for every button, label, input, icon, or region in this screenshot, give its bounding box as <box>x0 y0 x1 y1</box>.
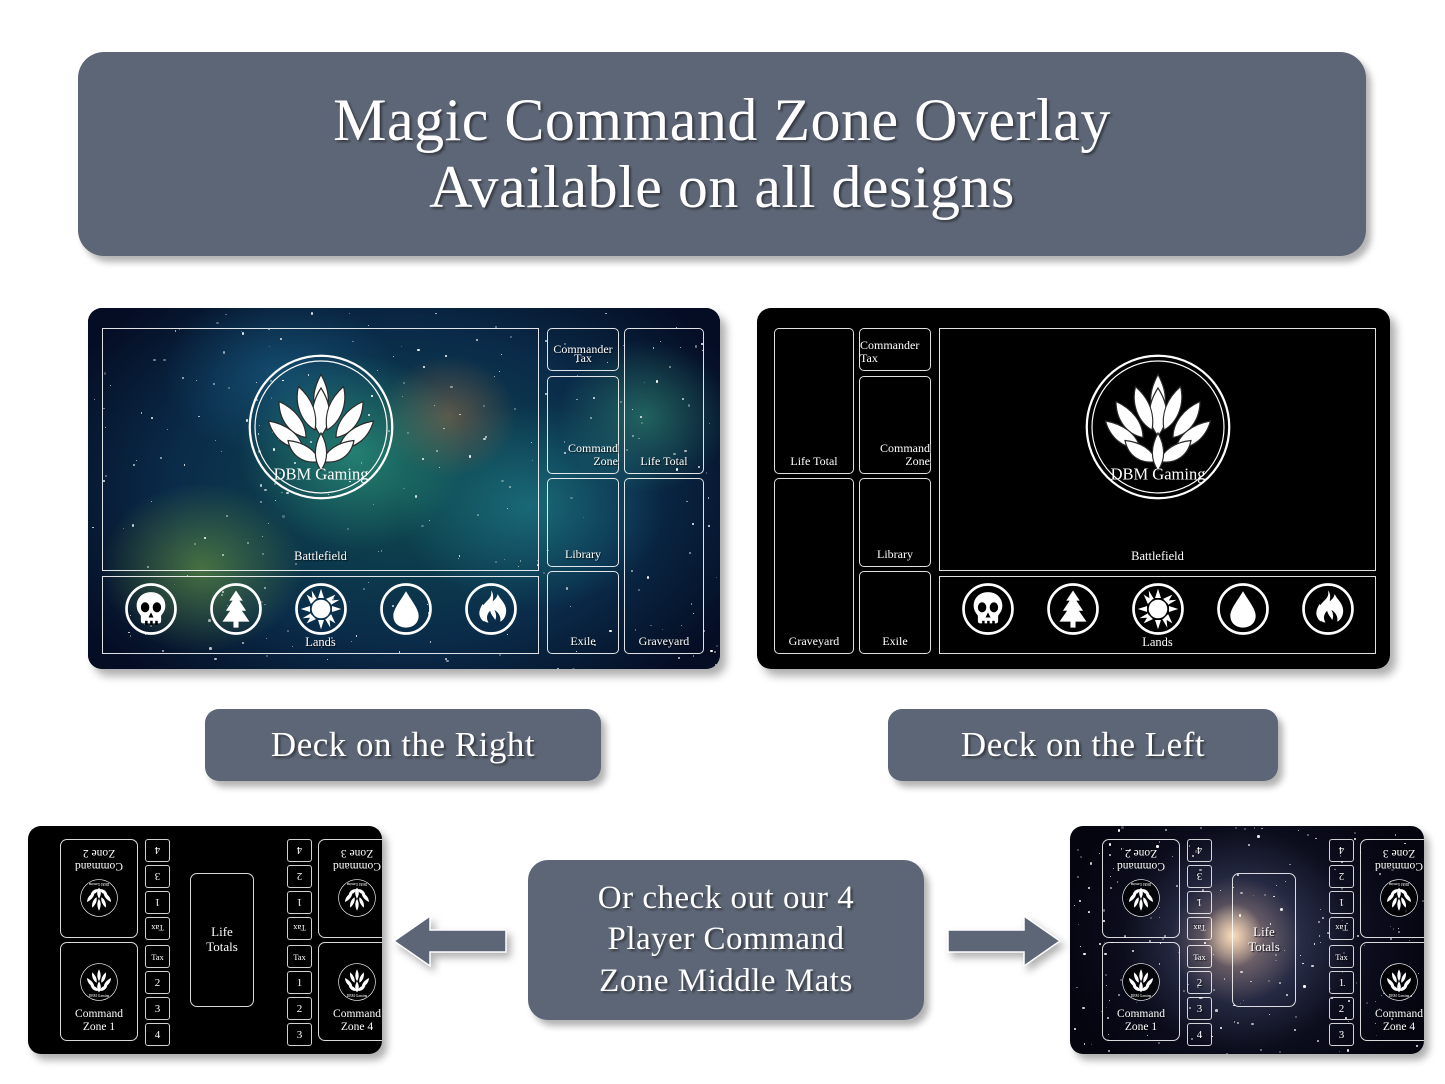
command-zone-3-galaxy-line1: Command <box>1375 859 1423 872</box>
command-zone-1-line2: Zone 1 <box>83 1021 115 1034</box>
command-zone-3-galaxy[interactable]: DBM Gaming Command Zone 3 <box>1360 839 1424 938</box>
water-drop-icon[interactable] <box>379 582 433 636</box>
command-zone-1[interactable]: DBM Gaming Command Zone 1 <box>60 942 138 1041</box>
cta-line2: Player Command <box>607 919 844 960</box>
brand-name-text: DBM Gaming <box>274 465 369 484</box>
command-zone-3-line2: Zone 3 <box>341 846 373 859</box>
command-zone-1-galaxy-line1: Command <box>1117 1008 1165 1021</box>
command-zone-4-galaxy-line1: Command <box>1375 1008 1423 1021</box>
library-label: Library <box>565 548 601 561</box>
zone-commander-tax-line2-holder: Tax <box>547 328 619 371</box>
zone-life-total[interactable]: Life Total <box>624 328 704 474</box>
library-label-mirror: Library <box>877 548 913 561</box>
svg-text:DBM Gaming: DBM Gaming <box>88 882 109 886</box>
counter-left-top-0-galaxy[interactable]: 4 <box>1187 839 1212 862</box>
zone-library[interactable]: Library <box>547 478 619 567</box>
command-zone-4-galaxy-line2: Zone 4 <box>1383 1021 1415 1034</box>
water-drop-icon[interactable] <box>1216 582 1270 636</box>
counter-right-bottom-1[interactable]: 1 <box>287 971 312 994</box>
svg-text:DBM Gaming: DBM Gaming <box>1131 994 1152 998</box>
counter-left-bottom-1[interactable]: 2 <box>145 971 170 994</box>
zone-command-zone-mirror[interactable]: Command Zone <box>859 376 931 474</box>
sun-icon[interactable] <box>294 582 348 636</box>
zone-exile[interactable]: Exile <box>547 571 619 654</box>
battlefield-label: Battlefield <box>103 549 538 564</box>
counter-right-bottom-2[interactable]: 2 <box>287 997 312 1020</box>
graveyard-label: Graveyard <box>639 635 690 648</box>
counter-right-bottom-1-galaxy[interactable]: 1 <box>1329 971 1354 994</box>
caption-right-text: Deck on the Left <box>961 726 1205 765</box>
header-title-line2: Available on all designs <box>429 154 1015 221</box>
zone-commander-tax-mirror[interactable]: Commander Tax <box>859 328 931 371</box>
svg-text:DBM Gaming: DBM Gaming <box>1130 882 1151 886</box>
counter-right-bottom-2-galaxy[interactable]: 2 <box>1329 997 1354 1020</box>
counter-left-top-tax[interactable]: Tax <box>145 917 170 940</box>
command-zone-2-galaxy[interactable]: DBM Gaming Command Zone 2 <box>1102 839 1180 938</box>
life-totals-galaxy-line1: Life <box>1253 925 1275 940</box>
brand-name-text: DBM Gaming <box>1111 465 1206 484</box>
counter-right-bottom-3[interactable]: 3 <box>287 1023 312 1046</box>
header-title-line1: Magic Command Zone Overlay <box>333 87 1111 154</box>
brand-logo: DBM Gaming <box>246 352 396 502</box>
commander-tax-label-line2: Tax <box>574 352 592 365</box>
counter-right-top-tax[interactable]: Tax <box>287 917 312 940</box>
graveyard-label-mirror: Graveyard <box>789 635 840 648</box>
arrow-left-icon <box>390 910 510 972</box>
playmat-deck-on-the-left[interactable]: Life Total Graveyard Commander Tax Comma… <box>757 308 1390 669</box>
exile-label-mirror: Exile <box>882 635 907 648</box>
lotus-icon: DBM Gaming <box>246 352 396 502</box>
sun-icon[interactable] <box>1131 582 1185 636</box>
playmat-deck-on-the-right[interactable]: Battlefield DBM Gaming Lands <box>88 308 720 669</box>
command-zone-3-line1: Command <box>333 859 381 872</box>
counter-left-bottom-3-galaxy[interactable]: 4 <box>1187 1023 1212 1046</box>
lotus-icon: DBM Gaming <box>1121 878 1161 918</box>
lotus-icon: DBM Gaming <box>79 878 119 918</box>
brand-logo-mirror: DBM Gaming <box>1083 352 1233 502</box>
counter-right-top-2[interactable]: 1 <box>287 891 312 914</box>
counter-right-top-0[interactable]: 4 <box>287 839 312 862</box>
counter-right-top-2-galaxy[interactable]: 1 <box>1329 891 1354 914</box>
command-zone-4-line1: Command <box>333 1008 381 1021</box>
middle-mat-4-player-galaxy[interactable]: DBM Gaming Command Zone 2 DBM Gaming Com… <box>1070 826 1424 1054</box>
svg-text:DBM Gaming: DBM Gaming <box>1388 882 1409 886</box>
zone-life-total-mirror[interactable]: Life Total <box>774 328 854 474</box>
command-zone-label-mirror-line2: Zone <box>905 455 930 468</box>
exile-label: Exile <box>570 635 595 648</box>
command-zone-2-line1: Command <box>75 859 123 872</box>
counter-right-bottom-tax[interactable]: Tax <box>287 945 312 968</box>
zone-graveyard[interactable]: Graveyard <box>624 478 704 654</box>
caption-deck-on-the-right: Deck on the Right <box>205 709 601 781</box>
counter-left-top-1[interactable]: 3 <box>145 865 170 888</box>
mana-symbol-row <box>108 580 533 638</box>
command-zone-label-line2: Zone <box>593 455 618 468</box>
command-zone-3[interactable]: DBM Gaming Command Zone 3 <box>318 839 382 938</box>
command-zone-2-line2: Zone 2 <box>83 846 115 859</box>
counter-left-top-0[interactable]: 4 <box>145 839 170 862</box>
life-totals-galaxy-line2: Totals <box>1248 940 1280 955</box>
counter-right-top-1-galaxy[interactable]: 2 <box>1329 865 1354 888</box>
command-zone-4-line2: Zone 4 <box>341 1021 373 1034</box>
counter-left-bottom-2[interactable]: 3 <box>145 997 170 1020</box>
life-totals-box[interactable]: Life Totals <box>190 873 254 1007</box>
cta-line3: Zone Middle Mats <box>599 961 853 1002</box>
command-zone-3-galaxy-line2: Zone 3 <box>1383 846 1415 859</box>
cta-banner[interactable]: Or check out our 4 Player Command Zone M… <box>528 860 924 1020</box>
zone-exile-mirror[interactable]: Exile <box>859 571 931 654</box>
zone-graveyard-mirror[interactable]: Graveyard <box>774 478 854 654</box>
life-total-label-mirror: Life Total <box>790 455 837 468</box>
lotus-icon: DBM Gaming <box>337 962 377 1002</box>
counter-left-bottom-2-galaxy[interactable]: 3 <box>1187 997 1212 1020</box>
middle-mat-4-player-black[interactable]: DBM Gaming Command Zone 2 DBM Gaming Com… <box>28 826 382 1054</box>
command-zone-4[interactable]: DBM Gaming Command Zone 4 <box>318 942 382 1041</box>
counter-right-top-1[interactable]: 2 <box>287 865 312 888</box>
svg-text:DBM Gaming: DBM Gaming <box>89 994 110 998</box>
caption-deck-on-the-left: Deck on the Left <box>888 709 1278 781</box>
tree-icon[interactable] <box>1046 582 1100 636</box>
counter-left-top-1-galaxy[interactable]: 3 <box>1187 865 1212 888</box>
lotus-icon: DBM Gaming <box>1121 962 1161 1002</box>
life-totals-line1: Life <box>211 925 233 940</box>
counter-left-bottom-3[interactable]: 4 <box>145 1023 170 1046</box>
lotus-icon: DBM Gaming <box>337 878 377 918</box>
counter-left-top-tax-galaxy[interactable]: Tax <box>1187 917 1212 940</box>
tree-icon[interactable] <box>209 582 263 636</box>
lotus-icon: DBM Gaming <box>1379 878 1419 918</box>
life-total-label: Life Total <box>640 455 687 468</box>
battlefield-label-mirror: Battlefield <box>940 549 1375 564</box>
lotus-icon: DBM Gaming <box>1379 962 1419 1002</box>
counter-right-bottom-tax-galaxy[interactable]: Tax <box>1329 945 1354 968</box>
counter-left-bottom-tax[interactable]: Tax <box>145 945 170 968</box>
svg-text:DBM Gaming: DBM Gaming <box>347 994 368 998</box>
cta-line1: Or check out our 4 <box>598 878 854 919</box>
svg-text:DBM Gaming: DBM Gaming <box>346 882 367 886</box>
command-zone-2-galaxy-line2: Zone 2 <box>1125 846 1157 859</box>
command-zone-1-galaxy-line2: Zone 1 <box>1125 1021 1157 1034</box>
command-zone-4-galaxy[interactable]: DBM Gaming Command Zone 4 <box>1360 942 1424 1041</box>
mana-symbol-row-mirror <box>945 580 1370 638</box>
counter-left-top-2[interactable]: 1 <box>145 891 170 914</box>
lotus-icon: DBM Gaming <box>1083 352 1233 502</box>
command-zone-1-galaxy[interactable]: DBM Gaming Command Zone 1 <box>1102 942 1180 1041</box>
flame-icon[interactable] <box>464 582 518 636</box>
svg-text:DBM Gaming: DBM Gaming <box>1389 994 1410 998</box>
lotus-icon: DBM Gaming <box>79 962 119 1002</box>
command-zone-2[interactable]: DBM Gaming Command Zone 2 <box>60 839 138 938</box>
counter-right-top-tax-galaxy[interactable]: Tax <box>1329 917 1354 940</box>
arrow-right-icon <box>944 910 1064 972</box>
counter-right-top-0-galaxy[interactable]: 4 <box>1329 839 1354 862</box>
life-totals-line2: Totals <box>206 940 238 955</box>
zone-library-mirror[interactable]: Library <box>859 478 931 567</box>
command-zone-1-line1: Command <box>75 1008 123 1021</box>
command-zone-2-galaxy-line1: Command <box>1117 859 1165 872</box>
flame-icon[interactable] <box>1301 582 1355 636</box>
counter-left-bottom-tax-galaxy[interactable]: Tax <box>1187 945 1212 968</box>
zone-command-zone[interactable]: Command Zone <box>547 376 619 474</box>
counter-right-bottom-3-galaxy[interactable]: 3 <box>1329 1023 1354 1046</box>
skull-icon[interactable] <box>124 582 178 636</box>
counter-left-bottom-1-galaxy[interactable]: 2 <box>1187 971 1212 994</box>
commander-tax-label-mirror-line2: Tax <box>860 352 878 365</box>
header-banner: Magic Command Zone Overlay Available on … <box>78 52 1366 256</box>
life-totals-box-galaxy[interactable]: Life Totals <box>1232 873 1296 1007</box>
skull-icon[interactable] <box>961 582 1015 636</box>
counter-left-top-2-galaxy[interactable]: 1 <box>1187 891 1212 914</box>
caption-left-text: Deck on the Right <box>271 726 535 765</box>
